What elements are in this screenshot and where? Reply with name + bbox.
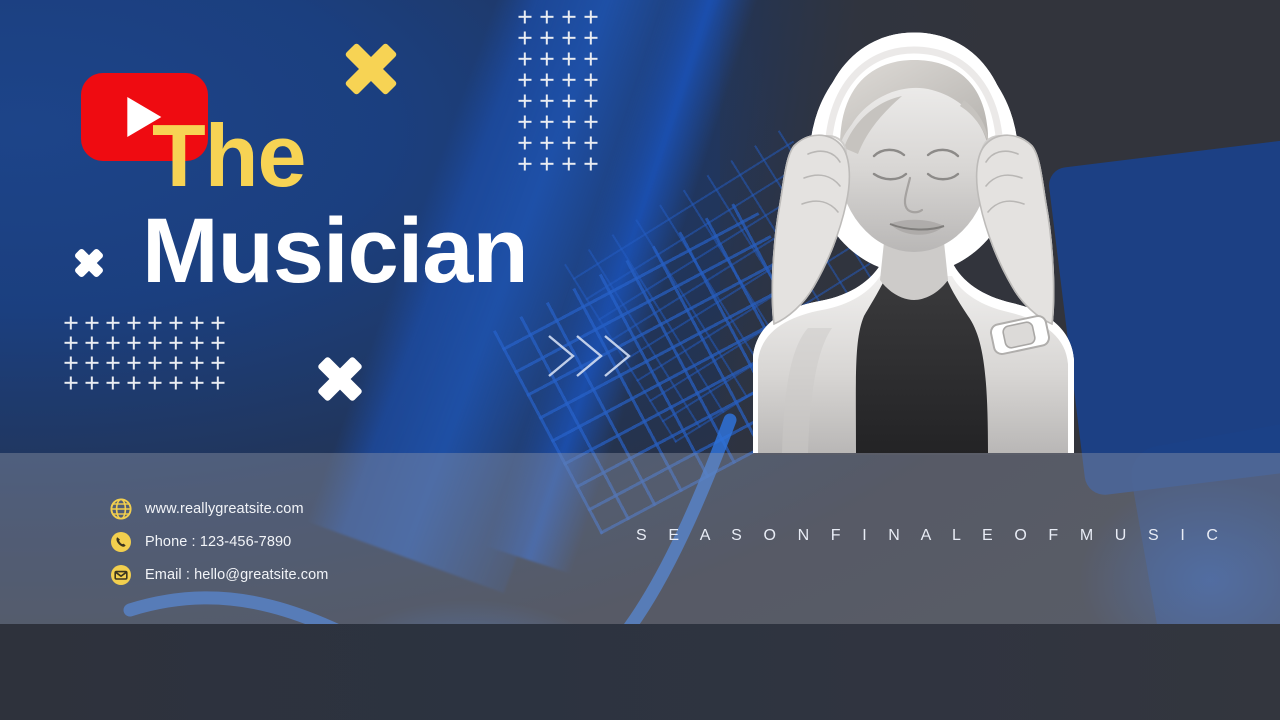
title-line-2: Musician bbox=[142, 205, 528, 297]
footer-bottom-band bbox=[0, 624, 1280, 720]
plus-grid-top-right bbox=[514, 6, 602, 174]
chevron-triple-right-icon bbox=[545, 330, 631, 382]
contact-list: www.reallygreatsite.com Phone : 123-456-… bbox=[110, 492, 328, 591]
phone-icon bbox=[110, 531, 132, 553]
tagline: S E A S O N F I N A L E O F M U S I C bbox=[636, 527, 1227, 545]
x-mark-white-small-icon bbox=[71, 245, 107, 281]
contact-row-phone[interactable]: Phone : 123-456-7890 bbox=[110, 525, 328, 558]
plus-grid-bottom-left bbox=[60, 313, 228, 393]
title-line-1: The bbox=[152, 112, 305, 200]
contact-row-email[interactable]: Email : hello@greatsite.com bbox=[110, 558, 328, 591]
contact-website-text: www.reallygreatsite.com bbox=[145, 501, 304, 517]
contact-row-website[interactable]: www.reallygreatsite.com bbox=[110, 492, 328, 525]
contact-email-text: Email : hello@greatsite.com bbox=[145, 567, 328, 583]
woman-with-headphones-photo bbox=[748, 28, 1078, 453]
x-mark-white-icon bbox=[313, 352, 367, 406]
envelope-icon bbox=[110, 564, 132, 586]
slide-canvas: The Musician bbox=[0, 0, 1280, 720]
avatar bbox=[748, 28, 1078, 453]
contact-phone-text: Phone : 123-456-7890 bbox=[145, 534, 291, 550]
x-mark-yellow-icon bbox=[340, 38, 402, 100]
globe-icon bbox=[110, 498, 132, 520]
